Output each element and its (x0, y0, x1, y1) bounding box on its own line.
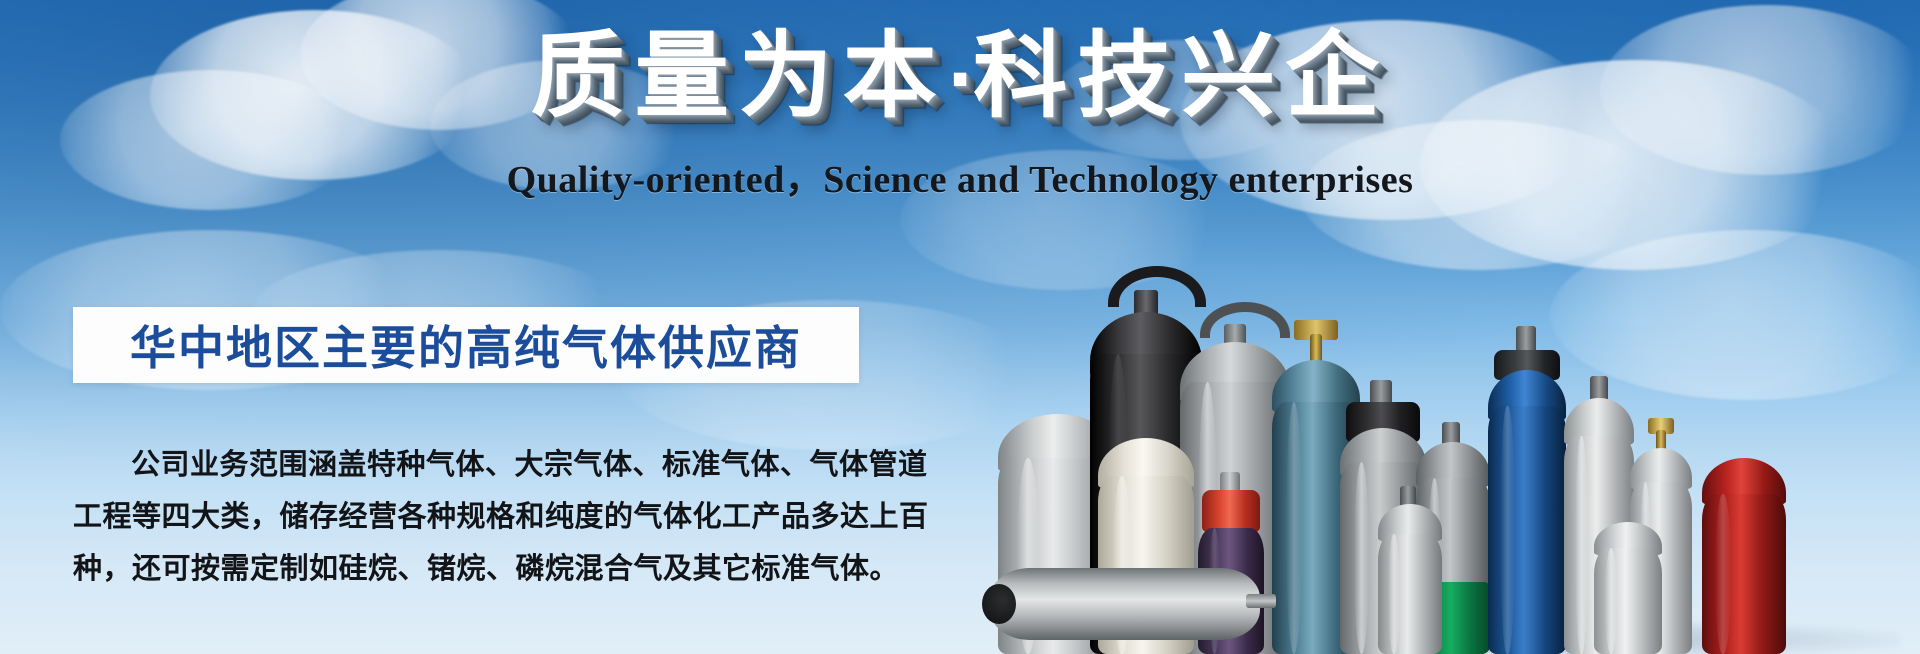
cylinder-gloss (1286, 402, 1302, 654)
cylinder-gloss (1715, 494, 1730, 654)
banner-body-copy: 公司业务范围涵盖特种气体、大宗气体、标准气体、气体管道 工程等四大类，储存经营各… (73, 438, 873, 594)
cylinder-gloss (1605, 548, 1617, 654)
highlight-box: 华中地区主要的高纯气体供应商 (73, 307, 859, 383)
tank-valve (1246, 594, 1276, 608)
cylinder-red (1702, 458, 1786, 654)
headline-separator-dot: · (947, 39, 974, 121)
cylinder-aluminium-front-right (1594, 522, 1662, 654)
cylinder-aluminium-front (1378, 504, 1442, 654)
headline-part-2: 科技兴企 (973, 22, 1389, 131)
body-line: 工程等四大类，储存经营各种规格和纯度的气体化工产品多达上百 (73, 490, 873, 542)
cylinder-body (1488, 406, 1566, 654)
cylinder-body (1702, 494, 1786, 654)
highlight-box-text: 华中地区主要的高纯气体供应商 (130, 312, 802, 378)
tank-end-cap (982, 584, 1016, 624)
cylinder-gloss (1575, 436, 1588, 654)
cylinder-body (1378, 534, 1442, 654)
cylinder-gloss (1388, 534, 1400, 654)
cylinder-blue (1488, 354, 1566, 654)
banner-headline: 质量为本·科技兴企 (0, 26, 1920, 128)
body-line: 公司业务范围涵盖特种气体、大宗气体、标准气体、气体管道 (73, 438, 873, 490)
cylinder-gloss (1354, 462, 1369, 654)
cylinder-cap (1202, 490, 1260, 532)
promo-banner: 质量为本·科技兴企 Quality-oriented，Science and T… (0, 0, 1920, 654)
horizontal-gas-tank (990, 568, 1260, 640)
cylinder-body (1594, 548, 1662, 654)
gas-cylinder-group (980, 184, 1920, 654)
body-line: 种，还可按需定制如硅烷、锗烷、磷烷混合气及其它标准气体。 (73, 542, 873, 594)
headline-part-1: 质量为本 (531, 22, 947, 131)
cylinder-gloss (1500, 406, 1514, 654)
